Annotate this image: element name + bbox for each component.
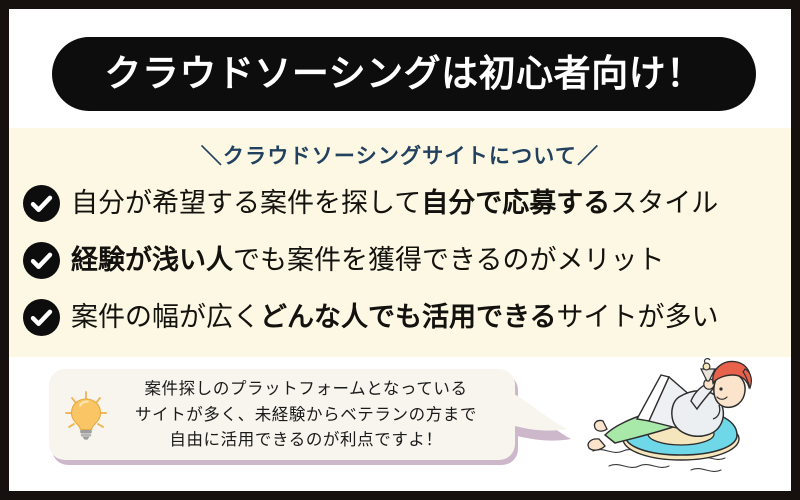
callout-bubble: 案件探しのプラットフォームとなっている サイトが多く、未経験からベテランの方まで… — [49, 369, 519, 465]
list-item-text: 案件の幅が広くどんな人でも活用できるサイトが多い — [71, 303, 718, 333]
list-item-text: 自分が希望する案件を探して自分で応募するスタイル — [71, 189, 718, 219]
list-item-tail: スタイル — [610, 188, 718, 219]
callout-line: 自由に活用できるのが利点ですよ！ — [113, 427, 499, 453]
page-title: クラウドソーシングは初心者向け！ — [104, 55, 703, 92]
list-item-text: 経験が浅い人でも案件を獲得できるのがメリット — [71, 246, 664, 276]
list-item-emphasis: 経験が浅い人 — [71, 245, 233, 276]
list-item-lead: 案件の幅が広く — [71, 302, 260, 333]
list-item: 案件の幅が広くどんな人でも活用できるサイトが多い — [23, 289, 783, 346]
check-circle-icon — [23, 299, 60, 336]
check-circle-icon — [23, 185, 60, 222]
check-circle-icon — [23, 242, 60, 279]
callout-line: サイトが多く、未経験からベテランの方まで — [113, 402, 499, 428]
list-item-emphasis: どんな人でも活用できる — [260, 302, 556, 333]
callout-text: 案件探しのプラットフォームとなっている サイトが多く、未経験からベテランの方まで… — [113, 376, 515, 453]
list-item-tail: サイトが多い — [556, 302, 718, 333]
lightbulb-icon — [63, 389, 109, 441]
person-floating-with-laptop-illustration — [569, 339, 791, 491]
list-item: 経験が浅い人でも案件を獲得できるのがメリット — [23, 232, 783, 289]
checklist: 自分が希望する案件を探して自分で応募するスタイル 経験が浅い人でも案件を獲得でき… — [23, 175, 783, 346]
title-banner: クラウドソーシングは初心者向け！ — [52, 37, 756, 111]
list-item-lead: 自分が希望する案件を探して — [71, 188, 421, 219]
section-subtitle: ＼クラウドソーシングサイトについて／ — [9, 140, 791, 170]
list-item: 自分が希望する案件を探して自分で応募するスタイル — [23, 175, 783, 232]
infographic-canvas: クラウドソーシングは初心者向け！ ＼クラウドソーシングサイトについて／ 自分が希… — [0, 0, 800, 500]
callout-line: 案件探しのプラットフォームとなっている — [113, 376, 499, 402]
list-item-emphasis: 自分で応募する — [421, 188, 610, 219]
card-inner: クラウドソーシングは初心者向け！ ＼クラウドソーシングサイトについて／ 自分が希… — [9, 9, 791, 491]
list-item-tail: でも案件を獲得できるのがメリット — [233, 245, 664, 276]
bubble-body: 案件探しのプラットフォームとなっている サイトが多く、未経験からベテランの方まで… — [49, 369, 515, 460]
